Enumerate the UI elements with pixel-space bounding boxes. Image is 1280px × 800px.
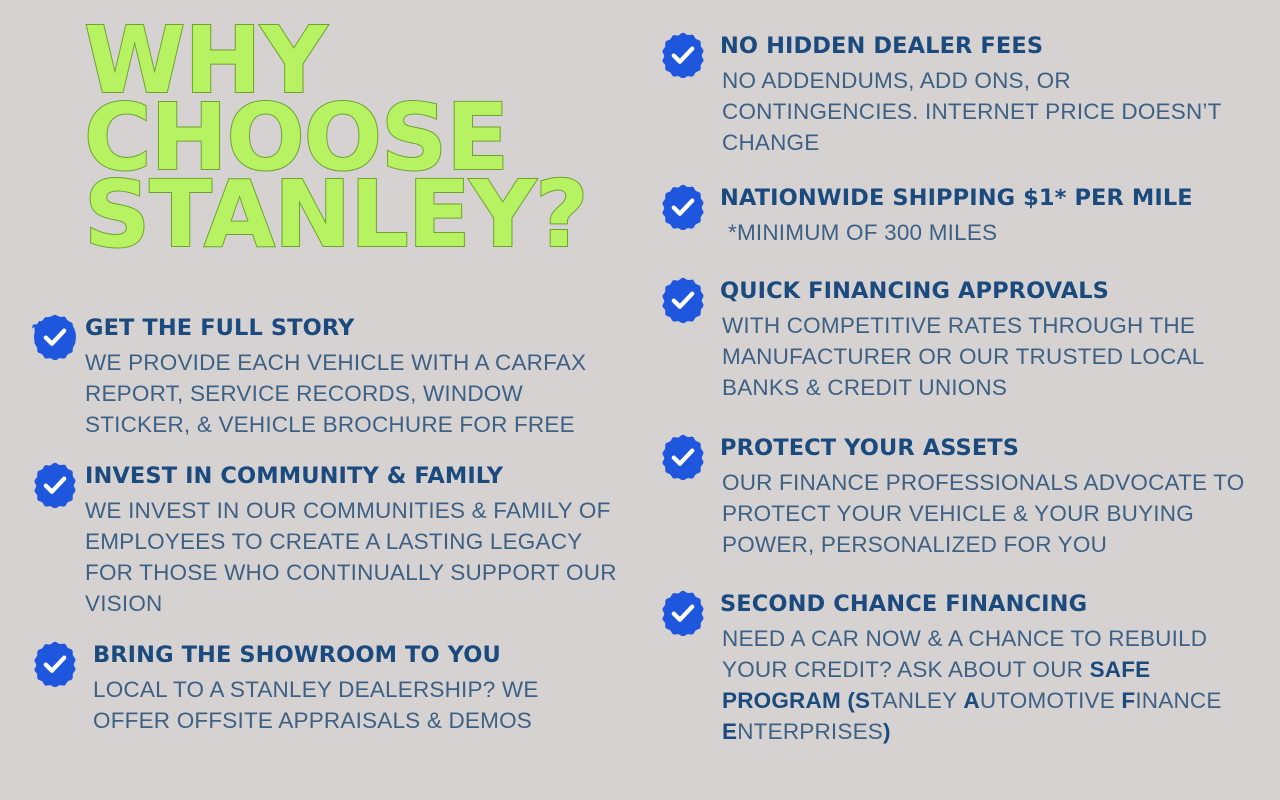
benefit-body: LOCAL TO A STANLEY DEALERSHIP? WE OFFER … [85, 674, 622, 736]
benefit-item: GET THE FULL STORY WE PROVIDE EACH VEHIC… [32, 310, 622, 440]
benefit-body-segment: INANCE [1135, 688, 1221, 713]
benefit-body-rich: NEED A CAR NOW & A CHANCE TO REBUILD YOU… [720, 623, 1260, 747]
benefit-body-segment: NTERPRISES [737, 719, 883, 744]
benefit-body: WE INVEST IN OUR COMMUNITIES & FAMILY OF… [85, 495, 622, 619]
benefit-heading: GET THE FULL STORY [85, 310, 622, 347]
benefit-item: INVEST IN COMMUNITY & FAMILY WE INVEST I… [32, 458, 622, 619]
check-badge-icon [32, 314, 78, 360]
check-badge-icon [660, 590, 706, 636]
benefit-body-segment: F [1121, 688, 1135, 713]
benefit-body-segment: TANLEY [870, 688, 963, 713]
benefit-body: OUR FINANCE PROFESSIONALS ADVOCATE TO PR… [720, 467, 1260, 560]
benefit-item: NATIONWIDE SHIPPING $1* PER MILE *MINIMU… [660, 180, 1260, 248]
benefit-item: PROTECT YOUR ASSETS OUR FINANCE PROFESSI… [660, 430, 1260, 560]
benefit-heading: PROTECT YOUR ASSETS [720, 430, 1260, 467]
benefit-heading: QUICK FINANCING APPROVALS [720, 273, 1260, 310]
benefit-item: QUICK FINANCING APPROVALS WITH COMPETITI… [660, 273, 1260, 403]
benefit-body: WITH COMPETITIVE RATES THROUGH THE MANUF… [720, 310, 1260, 403]
check-badge-icon [32, 641, 78, 687]
check-badge-icon [660, 277, 706, 323]
benefit-heading: NO HIDDEN DEALER FEES [720, 28, 1260, 65]
benefit-item: SECOND CHANCE FINANCING NEED A CAR NOW &… [660, 586, 1260, 747]
benefit-body: NO ADDENDUMS, ADD ONS, OR CONTINGENCIES.… [720, 65, 1260, 158]
benefit-heading: INVEST IN COMMUNITY & FAMILY [85, 458, 622, 495]
benefit-heading: NATIONWIDE SHIPPING $1* PER MILE [720, 180, 1260, 217]
benefit-heading: SECOND CHANCE FINANCING [720, 586, 1260, 623]
check-badge-icon [660, 32, 706, 78]
benefit-body-segment: UTOMOTIVE [980, 688, 1122, 713]
benefit-item: BRING THE SHOWROOM TO YOU LOCAL TO A STA… [32, 637, 622, 736]
why-choose-stanley-panel: WHY CHOOSE STANLEY? GET THE FULL STORY W… [0, 0, 1280, 800]
benefit-body-segment: A [963, 688, 979, 713]
benefit-body: WE PROVIDE EACH VEHICLE WITH A CARFAX RE… [85, 347, 622, 440]
benefit-body-segment: ) [883, 719, 891, 744]
left-benefits-column: GET THE FULL STORY WE PROVIDE EACH VEHIC… [32, 0, 622, 754]
benefit-item: NO HIDDEN DEALER FEES NO ADDENDUMS, ADD … [660, 28, 1260, 158]
check-badge-icon [660, 184, 706, 230]
check-badge-icon [32, 462, 78, 508]
benefit-heading: BRING THE SHOWROOM TO YOU [85, 637, 622, 674]
right-benefits-column: NO HIDDEN DEALER FEES NO ADDENDUMS, ADD … [660, 0, 1260, 765]
check-badge-icon [660, 434, 706, 480]
benefit-body-segment: E [722, 719, 737, 744]
benefit-body: *MINIMUM OF 300 MILES [720, 217, 1260, 248]
